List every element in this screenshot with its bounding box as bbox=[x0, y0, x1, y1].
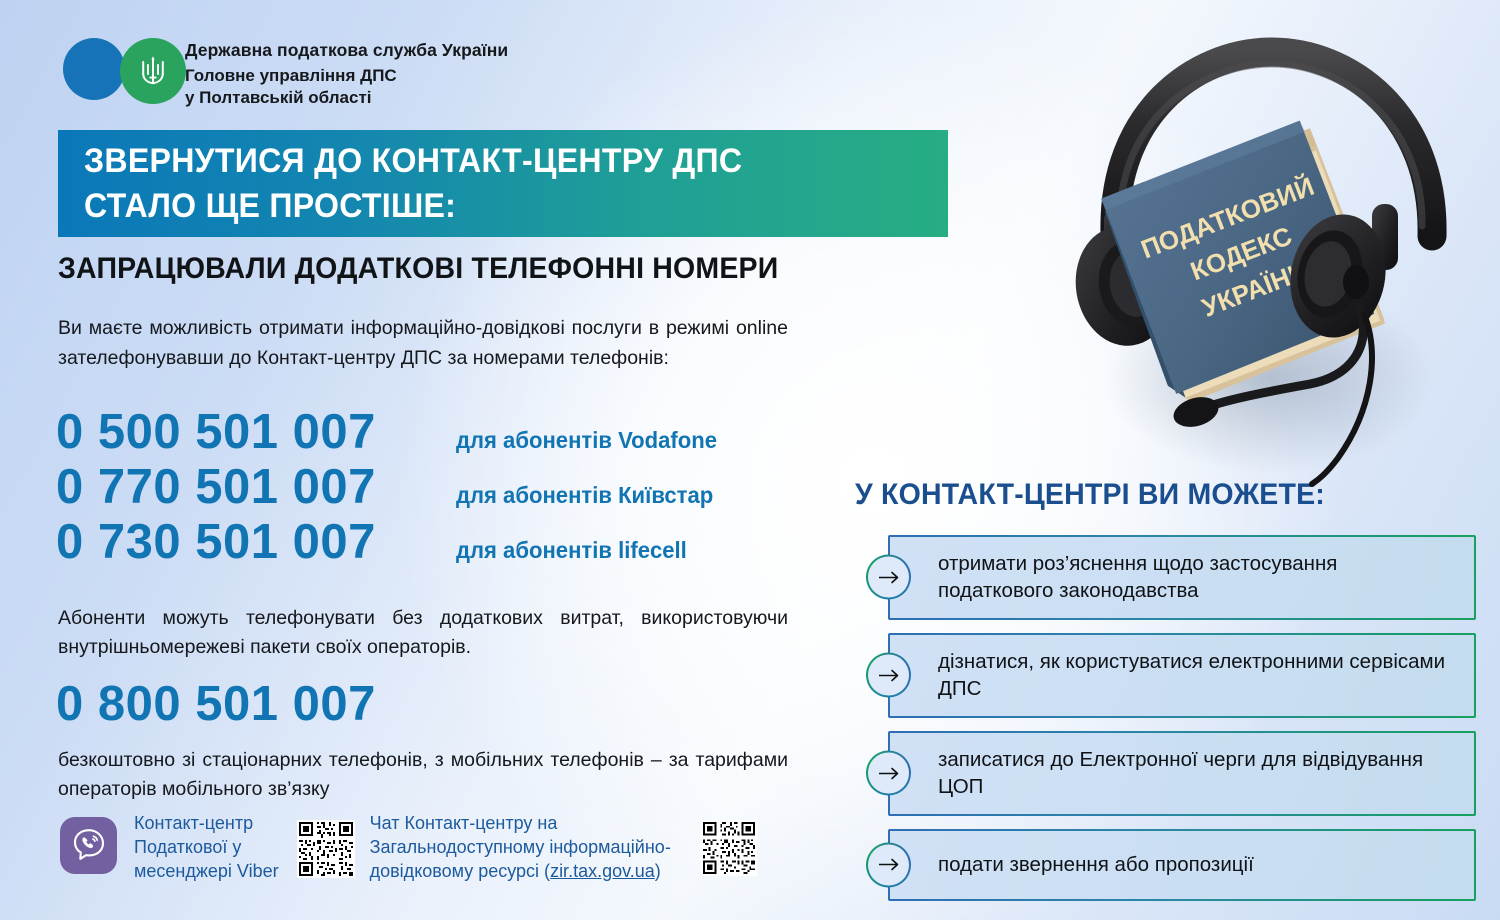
list-item[interactable]: дізнатися, як користуватися електронними… bbox=[866, 633, 1476, 718]
free-number-note: безкоштовно зі стаціонарних телефонів, з… bbox=[58, 746, 788, 805]
viber-label-line2: Податкової у bbox=[134, 836, 279, 860]
qr-code-zir[interactable] bbox=[701, 820, 757, 876]
list-item-label: дізнатися, як користуватися електронними… bbox=[938, 648, 1458, 703]
viber-contact-block[interactable]: Контакт-центр Податкової у месенджері Vi… bbox=[60, 812, 279, 884]
logo-marks bbox=[63, 35, 185, 109]
list-item[interactable]: подати звернення або пропозиції bbox=[866, 829, 1476, 901]
viber-label-line3: месенджері Viber bbox=[134, 860, 279, 884]
services-list: отримати роз’яснення щодо застосування п… bbox=[866, 535, 1476, 914]
zir-suffix: ) bbox=[655, 861, 661, 881]
zir-label: Чат Контакт-центру на Загальнодоступному… bbox=[370, 812, 671, 884]
viber-label: Контакт-центр Податкової у месенджері Vi… bbox=[134, 812, 279, 884]
arrow-right-icon bbox=[866, 653, 911, 698]
list-item[interactable]: отримати роз’яснення щодо застосування п… bbox=[866, 535, 1476, 620]
logo-text-block: Державна податкова служба України Головн… bbox=[185, 35, 508, 109]
phone-number[interactable]: 0 730 501 007 bbox=[56, 514, 456, 570]
subheading: ЗАПРАЦЮВАЛИ ДОДАТКОВІ ТЕЛЕФОННІ НОМЕРИ bbox=[58, 252, 778, 286]
phone-number-list: 0 500 501 007 для абонентів Vodafone 0 7… bbox=[56, 404, 728, 569]
phone-number[interactable]: 0 500 501 007 bbox=[56, 404, 456, 460]
headline-line2: СТАЛО ЩЕ ПРОСТІШЕ: bbox=[84, 184, 888, 228]
list-item-label: отримати роз’яснення щодо застосування п… bbox=[938, 550, 1458, 605]
viber-label-line1: Контакт-центр bbox=[134, 812, 279, 836]
org-name-line1: Державна податкова служба України bbox=[185, 39, 508, 62]
list-item-box: подати звернення або пропозиції bbox=[888, 829, 1476, 901]
list-item-box: отримати роз’яснення щодо застосування п… bbox=[888, 535, 1476, 620]
organization-logo-header: Державна податкова служба України Головн… bbox=[63, 35, 508, 109]
phone-number-row: 0 730 501 007 для абонентів lifecell bbox=[56, 514, 728, 569]
zir-label-line2: Загальнодоступному інформаційно- bbox=[370, 836, 671, 860]
phone-number-row: 0 500 501 007 для абонентів Vodafone bbox=[56, 404, 728, 459]
org-name-line3: у Полтавській області bbox=[185, 87, 508, 109]
phone-number-row: 0 770 501 007 для абонентів Київстар bbox=[56, 459, 728, 514]
zir-label-line1: Чат Контакт-центру на bbox=[370, 812, 671, 836]
intro-paragraph: Ви маєте можливість отримати інформаційн… bbox=[58, 314, 788, 373]
footer-contacts: Контакт-центр Податкової у месенджері Vi… bbox=[60, 812, 757, 884]
tax-code-book-with-headset-illustration: ПОДАТКОВИЙ КОДЕКС УКРАЇНИ bbox=[1020, 18, 1470, 488]
viber-icon bbox=[60, 817, 117, 874]
phone-number-operator-label: для абонентів lifecell bbox=[456, 537, 687, 564]
trident-icon bbox=[120, 38, 186, 104]
list-item-label: подати звернення або пропозиції bbox=[938, 851, 1254, 878]
arrow-right-icon bbox=[866, 555, 911, 600]
circle-icon bbox=[63, 38, 125, 100]
infographic-poster: Державна податкова служба України Головн… bbox=[0, 0, 1500, 920]
zir-prefix: довідковому ресурсі ( bbox=[370, 861, 550, 881]
list-item-box: записатися до Електронної черги для відв… bbox=[888, 731, 1476, 816]
zir-link[interactable]: zir.tax.gov.ua bbox=[550, 861, 655, 881]
qr-code-viber[interactable] bbox=[297, 820, 355, 878]
zir-label-line3: довідковому ресурсі (zir.tax.gov.ua) bbox=[370, 860, 671, 884]
phone-number-operator-label: для абонентів Vodafone bbox=[456, 427, 717, 454]
org-name-line2: Головне управління ДПС bbox=[185, 65, 508, 87]
headline-banner: ЗВЕРНУТИСЯ ДО КОНТАКТ-ЦЕНТРУ ДПС СТАЛО Щ… bbox=[58, 130, 948, 237]
list-item-box: дізнатися, як користуватися електронними… bbox=[888, 633, 1476, 718]
phone-number[interactable]: 0 770 501 007 bbox=[56, 459, 456, 515]
phone-number-operator-label: для абонентів Київстар bbox=[456, 482, 713, 509]
list-item[interactable]: записатися до Електронної черги для відв… bbox=[866, 731, 1476, 816]
arrow-right-icon bbox=[866, 751, 911, 796]
arrow-right-icon bbox=[866, 842, 911, 887]
operators-note: Абоненти можуть телефонувати без додатко… bbox=[58, 604, 788, 663]
headline-line1: ЗВЕРНУТИСЯ ДО КОНТАКТ-ЦЕНТРУ ДПС bbox=[84, 139, 888, 183]
free-phone-number[interactable]: 0 800 501 007 bbox=[56, 676, 376, 732]
list-item-label: записатися до Електронної черги для відв… bbox=[938, 746, 1458, 801]
